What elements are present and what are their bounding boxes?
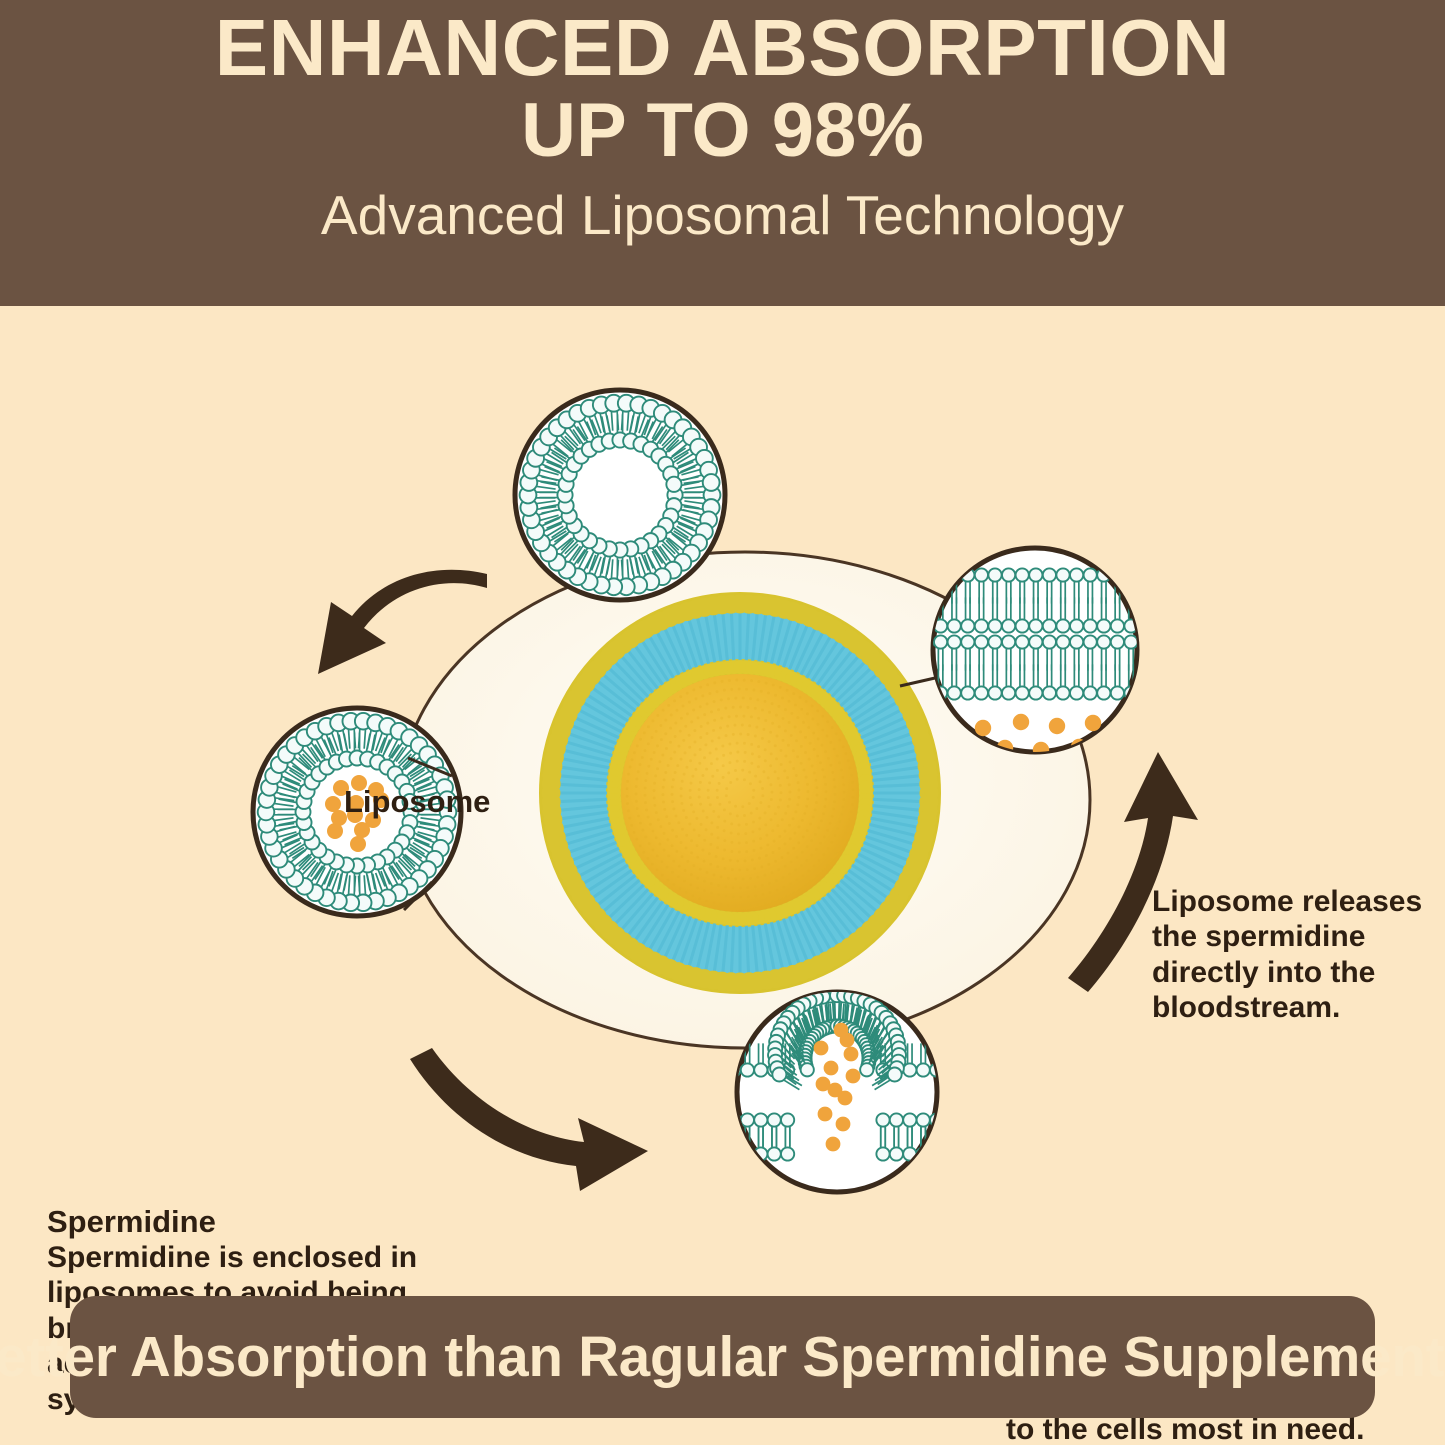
text-liposome-release: Liposome releases the spermidine directl… xyxy=(1152,884,1442,1026)
footer-banner: Better Absorption than Ragular Spermidin… xyxy=(70,1296,1375,1418)
label-liposome: Liposome xyxy=(344,784,490,821)
callout-liposome-plain xyxy=(515,390,725,600)
footer-text: Better Absorption than Ragular Spermidin… xyxy=(0,1324,1445,1390)
liposome-diagram: Liposome Liposome releases the spermidin… xyxy=(0,306,1445,1296)
diagram-svg xyxy=(0,306,1445,1296)
header-line-1: ENHANCED ABSORPTION xyxy=(215,6,1230,89)
header-line-2: UP TO 98% xyxy=(521,91,924,171)
text-spermidine-title: Spermidine xyxy=(47,1204,216,1241)
header-subtitle: Advanced Liposomal Technology xyxy=(321,185,1124,246)
arrow-bottom-left xyxy=(410,1048,648,1191)
central-liposome xyxy=(542,595,939,992)
infographic-page: ENHANCED ABSORPTION UP TO 98% Advanced L… xyxy=(0,0,1445,1445)
header-band: ENHANCED ABSORPTION UP TO 98% Advanced L… xyxy=(0,0,1445,306)
